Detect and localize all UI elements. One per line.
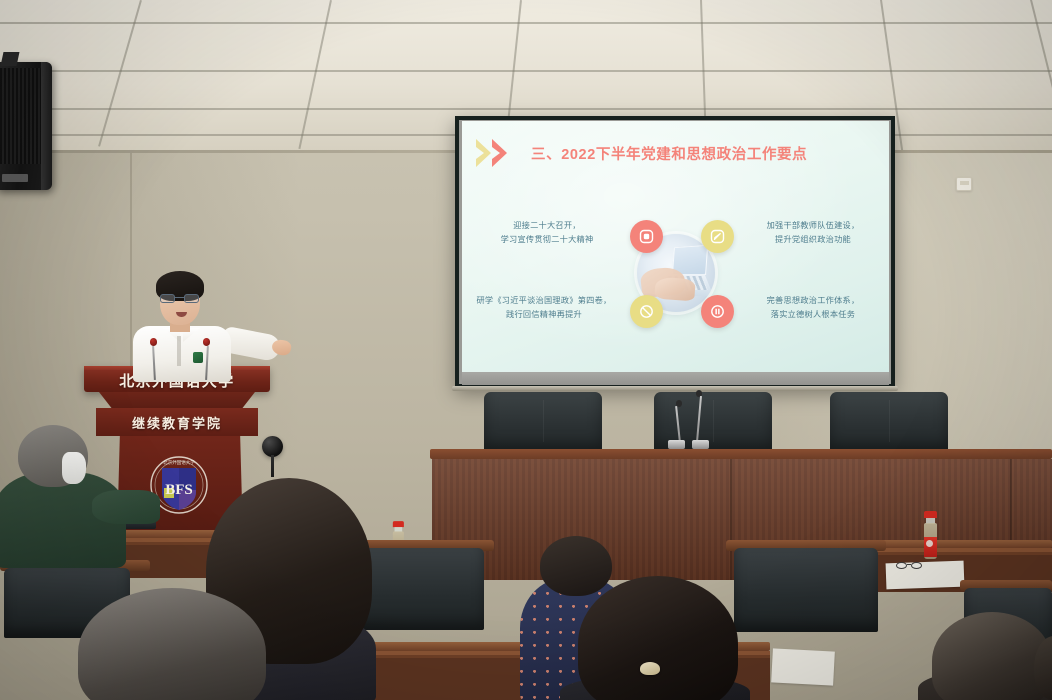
- rounded-square-icon: [630, 220, 663, 253]
- slide-item-bottom-right: 完善思想政治工作体系， 落实立德树人根本任务: [739, 294, 887, 321]
- pause-bars-icon: [701, 295, 734, 328]
- documents[interactable]: [771, 648, 835, 685]
- head-table-surface: [430, 449, 1052, 459]
- presentation-slide: 三、2022下半年党建和思想政治工作要点: [462, 121, 889, 372]
- speaker-grille: [0, 68, 42, 164]
- slide-item-top-left: 迎接二十大召开， 学习宣传贯彻二十大精神: [472, 219, 622, 246]
- audience-chair[interactable]: [734, 548, 878, 632]
- presenter-lapel-pin: [193, 352, 203, 363]
- head-chair[interactable]: [830, 392, 948, 454]
- speaker-brand-badge: [2, 174, 28, 182]
- microphone-stand: [271, 455, 274, 477]
- head-table-seam: [730, 459, 732, 580]
- presenter-torso: [133, 326, 231, 382]
- slide-title: 三、2022下半年党建和思想政治工作要点: [531, 143, 807, 164]
- head-chair[interactable]: [484, 392, 602, 454]
- chevron-coral-icon: [490, 138, 512, 168]
- no-entry-icon: [630, 295, 663, 328]
- slide-title-row: 三、2022下半年党建和思想政治工作要点: [474, 135, 877, 171]
- conference-room-photo: 三、2022下半年党建和思想政治工作要点: [0, 0, 1052, 700]
- audience-arm: [92, 490, 160, 524]
- svg-text:BFS: BFS: [165, 482, 193, 498]
- boundary-microphone[interactable]: [262, 436, 283, 457]
- screen-bottom-bar: [452, 386, 898, 391]
- face-mask: [62, 452, 86, 484]
- podium-neck: [99, 392, 255, 408]
- audience-desk-surface: [860, 540, 1052, 548]
- pencil-square-icon: [701, 220, 734, 253]
- speaker-side-panel: [41, 62, 52, 190]
- slide-item-bottom-left: 研学《习近平谈治国理政》第四卷， 践行回信精神再提升: [464, 294, 624, 321]
- slide-item-top-right: 加强干部教师队伍建设， 提升党组织政治功能: [739, 219, 887, 246]
- speaker-mount-bracket: [1, 52, 20, 66]
- podium-college-name: 继续教育学院: [96, 410, 258, 434]
- tea-bottle[interactable]: [924, 511, 937, 561]
- chevron-group: [474, 138, 522, 168]
- light-switch[interactable]: [956, 177, 972, 191]
- ceiling-speaker: [0, 62, 52, 190]
- svg-text:北京外国语大学: 北京外国语大学: [163, 459, 195, 466]
- presenter-shirt-placket: [177, 336, 181, 366]
- screen-lower-band: [462, 372, 889, 385]
- presenter-glasses: [160, 294, 200, 303]
- hair-clip: [640, 662, 660, 675]
